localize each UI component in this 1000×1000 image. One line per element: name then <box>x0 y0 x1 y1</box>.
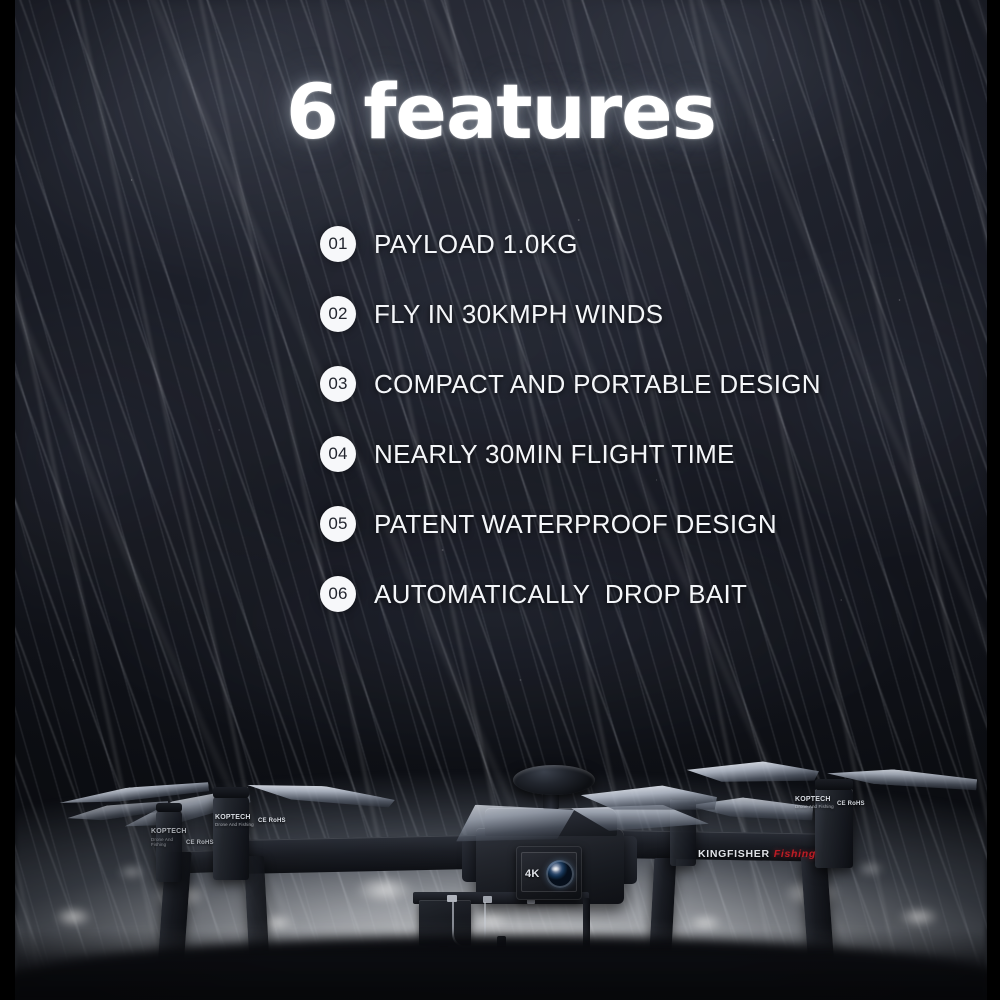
feature-label: AUTOMATICALLY DROP BAIT <box>374 579 747 610</box>
motor-brand-label: KOPTECH Drone And Fishing <box>795 796 835 810</box>
poster-frame: 6 features 01 PAYLOAD 1.0KG 02 FLY IN 30… <box>0 0 1000 1000</box>
list-item: 01 PAYLOAD 1.0KG <box>320 226 821 262</box>
motor-cap <box>156 803 182 812</box>
brand-name-text: KINGFISHER <box>698 848 770 860</box>
feature-label: PAYLOAD 1.0KG <box>374 229 578 260</box>
feature-number-badge: 01 <box>320 226 356 262</box>
camera-lens-flare <box>551 866 560 872</box>
brand-suffix-text: Fishing <box>774 848 816 860</box>
bait-release-clip <box>483 896 492 903</box>
motor-cert-label: CE RoHS <box>258 818 288 826</box>
feature-label: NEARLY 30MIN FLIGHT TIME <box>374 439 735 470</box>
feature-label: PATENT WATERPROOF DESIGN <box>374 509 777 540</box>
motor-cap <box>213 787 249 798</box>
propeller-blade-icon <box>687 759 820 788</box>
list-item: 03 COMPACT AND PORTABLE DESIGN <box>320 366 821 402</box>
feature-label: FLY IN 30KMPH WINDS <box>374 299 663 330</box>
motor-cert-label: CE RoHS <box>837 801 867 809</box>
feature-list: 01 PAYLOAD 1.0KG 02 FLY IN 30KMPH WINDS … <box>320 226 821 612</box>
list-item: 05 PATENT WATERPROOF DESIGN <box>320 506 821 542</box>
scene-background: 6 features 01 PAYLOAD 1.0KG 02 FLY IN 30… <box>15 0 987 1000</box>
motor-brand-subtext: Drone And Fishing <box>795 804 835 810</box>
page-title: 6 features <box>15 74 987 150</box>
brand-decal: KINGFISHERFishing <box>698 848 828 860</box>
camera-lens-icon <box>546 860 574 888</box>
feature-number-badge: 02 <box>320 296 356 332</box>
motor-brand-text: KOPTECH <box>151 828 185 837</box>
motor-pod-front-left <box>213 796 249 880</box>
feature-number-badge: 06 <box>320 576 356 612</box>
drone-arm-left <box>237 835 485 874</box>
list-item: 06 AUTOMATICALLY DROP BAIT <box>320 576 821 612</box>
motor-cap <box>815 779 853 790</box>
feature-number-badge: 05 <box>320 506 356 542</box>
motor-brand-label: KOPTECH Drone And Fishing <box>215 814 255 828</box>
bait-release-clip <box>447 895 457 902</box>
feature-number-badge: 04 <box>320 436 356 472</box>
motor-brand-subtext: Drone And Fishing <box>151 837 185 848</box>
list-item: 04 NEARLY 30MIN FLIGHT TIME <box>320 436 821 472</box>
foreground-ground <box>15 930 987 1000</box>
motor-brand-subtext: Drone And Fishing <box>215 822 255 828</box>
motor-brand-label: KOPTECH Drone And Fishing <box>151 828 185 848</box>
feature-label: COMPACT AND PORTABLE DESIGN <box>374 369 821 400</box>
list-item: 02 FLY IN 30KMPH WINDS <box>320 296 821 332</box>
motor-cert-label: CE RoHS <box>186 840 216 848</box>
gps-dome-icon <box>513 765 595 795</box>
propeller-blade-icon <box>247 782 396 808</box>
camera-resolution-label: 4K <box>525 868 547 880</box>
feature-number-badge: 03 <box>320 366 356 402</box>
